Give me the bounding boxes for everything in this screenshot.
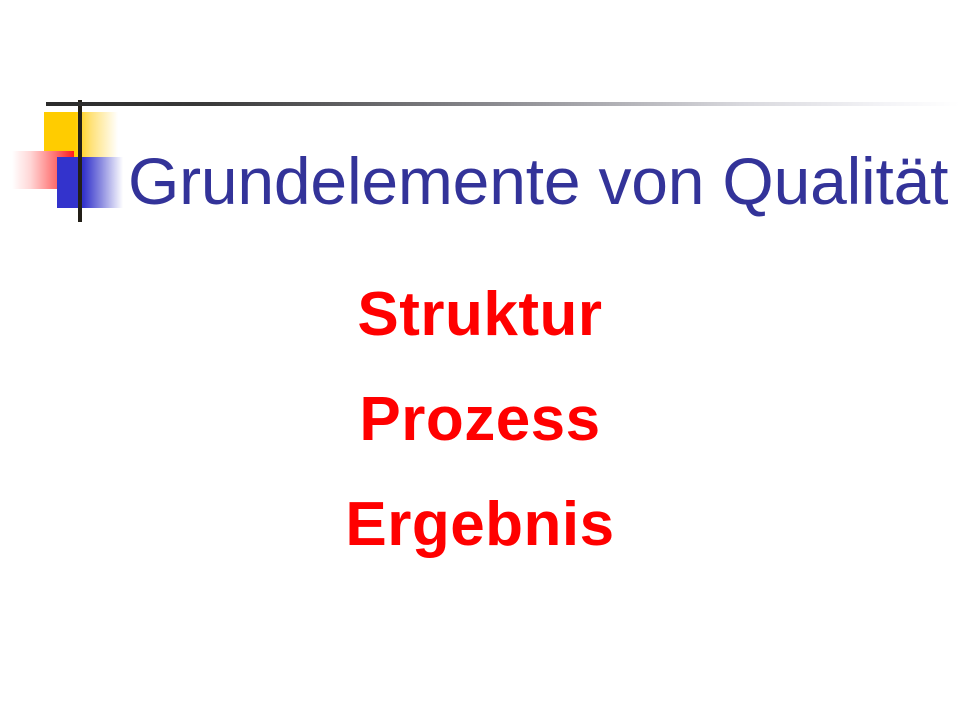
blue-square-icon [57, 157, 123, 208]
body-text-block: Struktur Prozess Ergebnis [0, 262, 960, 577]
body-line-struktur: Struktur [0, 262, 960, 367]
vertical-rule-divider [78, 100, 82, 222]
slide-canvas: Grundelemente von Qualität Struktur Proz… [0, 0, 960, 720]
title-underline-divider [46, 102, 960, 106]
page-title: Grundelemente von Qualität [128, 148, 938, 214]
body-line-ergebnis: Ergebnis [0, 472, 960, 577]
body-line-prozess: Prozess [0, 367, 960, 472]
